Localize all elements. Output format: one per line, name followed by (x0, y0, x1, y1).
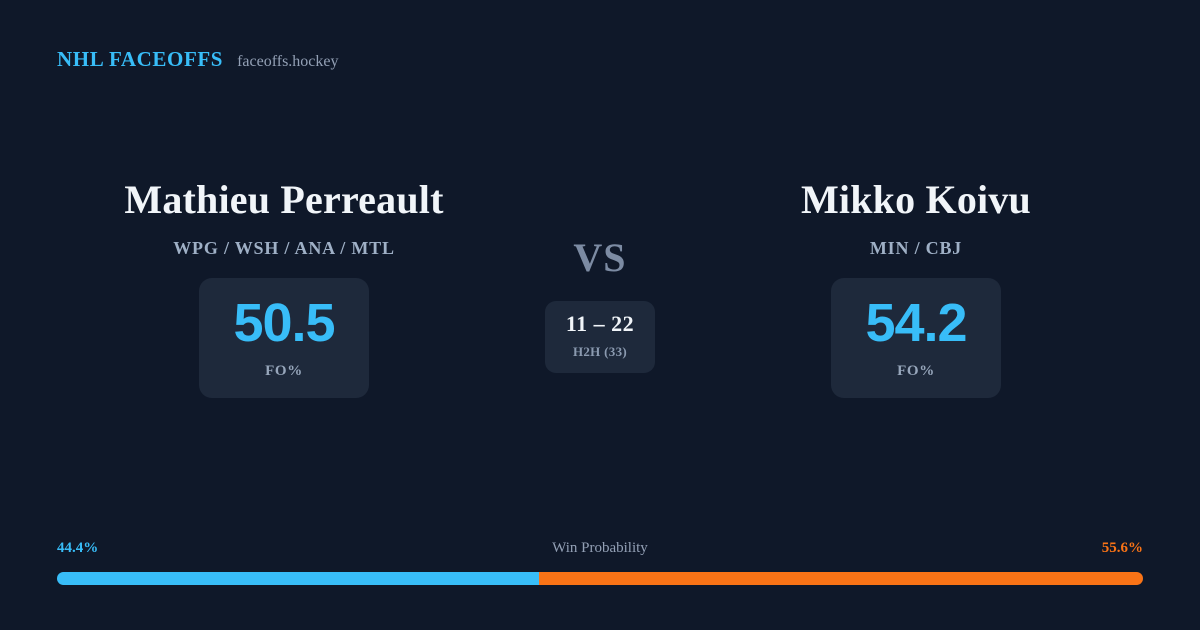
win-probability-bar (57, 572, 1143, 585)
player-teams-left: WPG / WSH / ANA / MTL (173, 238, 395, 259)
win-probability-labels: 44.4% Win Probability 55.6% (57, 540, 1143, 560)
win-probability-right-value: 55.6% (1102, 540, 1143, 557)
player-teams-right: MIN / CBJ (870, 238, 962, 259)
win-probability-section: 44.4% Win Probability 55.6% (57, 540, 1143, 585)
head-to-head-label: H2H (33) (573, 344, 627, 360)
stat-value-left: 50.5 (233, 296, 334, 350)
brand-title: NHL FACEOFFS (57, 47, 223, 72)
stat-card-right: 54.2 FO% (831, 278, 1001, 398)
site-header: NHL FACEOFFS faceoffs.hockey (57, 47, 339, 72)
matchup-section: Mathieu Perreault WPG / WSH / ANA / MTL … (0, 180, 1200, 440)
head-to-head-record: 11 – 22 (566, 313, 634, 335)
stat-value-right: 54.2 (865, 296, 966, 350)
win-probability-bar-left-fill (57, 572, 539, 585)
win-probability-title: Win Probability (57, 540, 1143, 557)
site-domain: faceoffs.hockey (237, 53, 338, 71)
versus-block: VS 11 – 22 H2H (33) (500, 238, 700, 373)
player-name-left: Mathieu Perreault (124, 180, 443, 220)
player-card-right[interactable]: Mikko Koivu MIN / CBJ 54.2 FO% (706, 180, 1126, 398)
stat-label-left: FO% (265, 363, 303, 380)
head-to-head-card: 11 – 22 H2H (33) (545, 301, 655, 373)
player-card-left[interactable]: Mathieu Perreault WPG / WSH / ANA / MTL … (74, 180, 494, 398)
versus-label: VS (573, 238, 626, 278)
stat-label-right: FO% (897, 363, 935, 380)
stat-card-left: 50.5 FO% (199, 278, 369, 398)
win-probability-bar-right-fill (539, 572, 1143, 585)
player-name-right: Mikko Koivu (801, 180, 1031, 220)
